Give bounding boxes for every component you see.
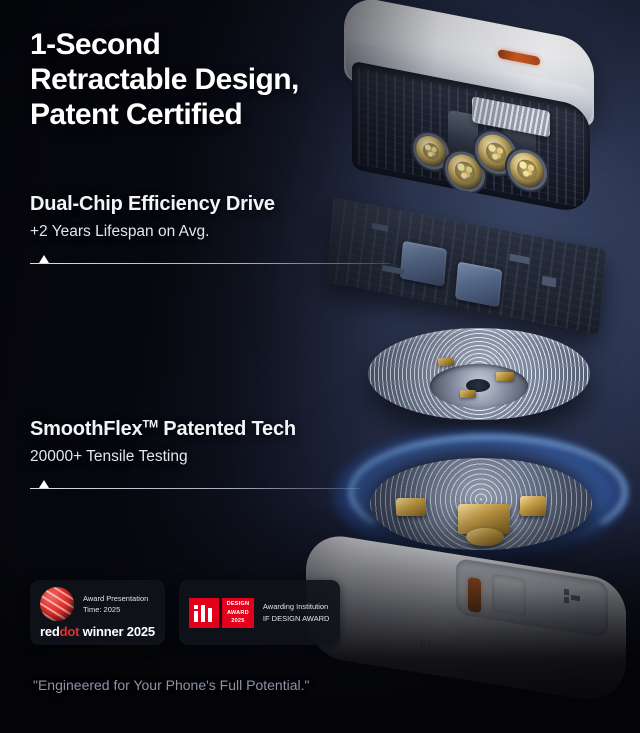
reddot-word-rest: winner 2025 <box>79 624 155 639</box>
callout-title-rest: Patented Tech <box>158 418 296 440</box>
leader-rule <box>30 263 390 264</box>
callout-leader-line <box>30 255 275 265</box>
reddot-word-red: red <box>40 624 60 639</box>
triangle-up-icon <box>39 255 49 263</box>
if-meta-line-1: Awarding Institution <box>263 601 330 613</box>
if-award-line-3: 2025 <box>231 617 244 625</box>
product-feature-poster: FIVIVI 1-Second Retractable Design, Pate… <box>0 0 640 733</box>
callout-subtitle: 20000+ Tensile Testing <box>30 448 296 466</box>
award-badge-reddot: Award Presentation Time: 2025 reddot win… <box>30 580 165 645</box>
if-meta: Awarding Institution IF DESIGN AWARD <box>263 601 330 624</box>
reddot-wordmark: reddot winner 2025 <box>40 624 155 639</box>
reddot-top-row: Award Presentation Time: 2025 <box>40 587 148 621</box>
callout-leader-line <box>30 480 296 490</box>
callout-title: SmoothFlexTM Patented Tech <box>30 418 296 441</box>
leader-rule <box>30 488 360 489</box>
if-award-line-2: AWARD <box>227 609 249 617</box>
feature-callout-smoothflex: SmoothFlexTM Patented Tech 20000+ Tensil… <box>30 418 296 490</box>
triangle-up-icon <box>39 480 49 488</box>
headline-line-3: Patent Certified <box>30 98 299 133</box>
tagline: "Engineered for Your Phone's Full Potent… <box>33 677 309 693</box>
trademark-symbol: TM <box>142 418 157 430</box>
award-badge-if-design: DESIGN AWARD 2025 Awarding Institution I… <box>179 580 341 645</box>
if-marks: DESIGN AWARD 2025 <box>189 598 254 628</box>
reddot-word-dot: dot <box>60 624 80 639</box>
headline-line-1: 1-Second <box>30 28 299 63</box>
feature-callout-dual-chip: Dual-Chip Efficiency Drive +2 Years Life… <box>30 193 275 265</box>
reddot-meta: Award Presentation Time: 2025 <box>83 593 148 616</box>
if-meta-line-2: IF DESIGN AWARD <box>263 613 330 625</box>
reddot-meta-line-1: Award Presentation <box>83 593 148 604</box>
if-award-block: DESIGN AWARD 2025 <box>222 598 254 628</box>
if-logo-icon <box>189 598 219 628</box>
if-logo-bars <box>194 605 213 622</box>
if-award-line-1: DESIGN <box>227 600 250 608</box>
callout-title: Dual-Chip Efficiency Drive <box>30 193 275 216</box>
page-title: 1-Second Retractable Design, Patent Cert… <box>30 28 299 132</box>
headline-line-2: Retractable Design, <box>30 63 299 98</box>
callout-title-main: SmoothFlex <box>30 418 142 440</box>
reddot-meta-line-2: Time: 2025 <box>83 604 148 615</box>
award-badges: Award Presentation Time: 2025 reddot win… <box>30 580 340 645</box>
reddot-logo-icon <box>40 587 74 621</box>
callout-subtitle: +2 Years Lifespan on Avg. <box>30 223 275 241</box>
